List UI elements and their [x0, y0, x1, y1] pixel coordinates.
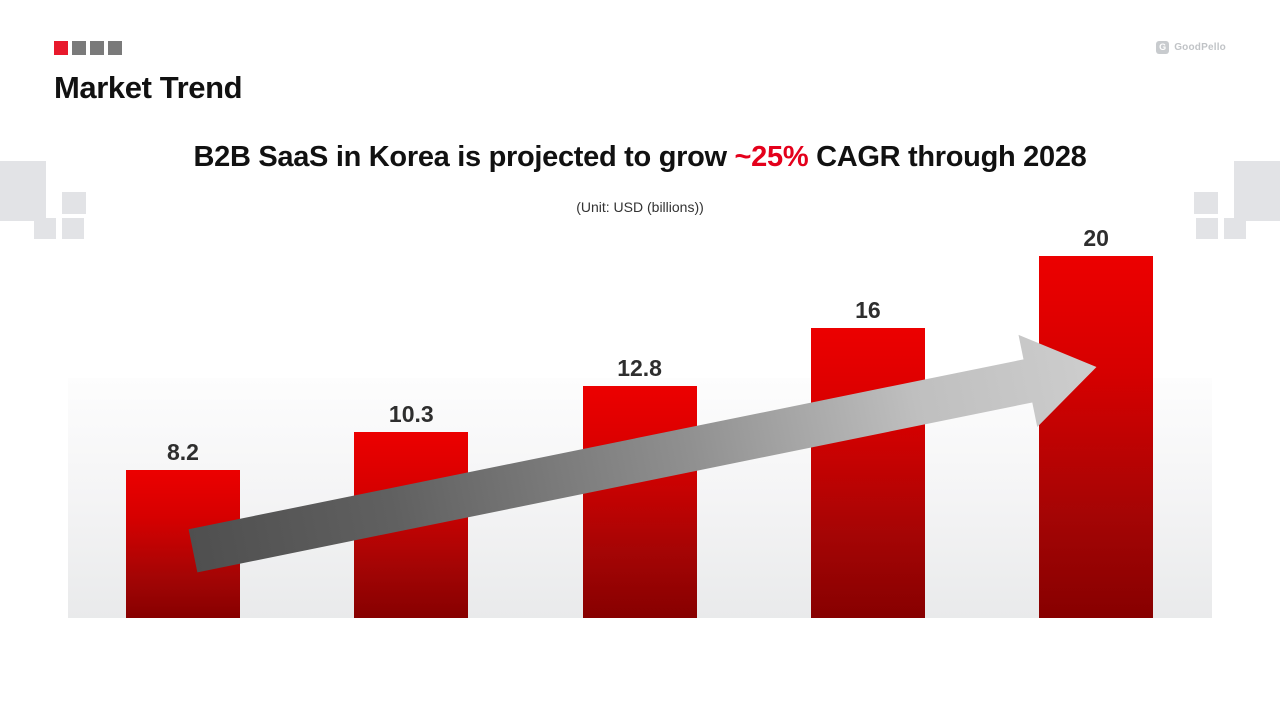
slide-canvas: Market Trend G GoodPello B2B SaaS in Kor… [0, 0, 1280, 720]
brand-logo: G GoodPello [1156, 41, 1226, 54]
bar-value-2024: 8.2 [126, 439, 240, 466]
bar-2026[interactable] [583, 386, 697, 618]
unit-note: (Unit: USD (billions)) [0, 199, 1280, 215]
decor-square-left-small [34, 218, 56, 239]
accent-swatches [54, 41, 122, 55]
accent-swatch-4 [108, 41, 122, 55]
decor-square-right-small [1224, 218, 1246, 239]
bar-2025[interactable] [354, 432, 468, 618]
accent-swatch-2 [72, 41, 86, 55]
bar-2024[interactable] [126, 470, 240, 618]
headline-before: B2B SaaS in Korea is projected to grow [193, 141, 734, 173]
brand-mark-icon: G [1156, 41, 1169, 54]
brand-name: GoodPello [1174, 42, 1226, 53]
headline-after: CAGR through 2028 [808, 141, 1086, 173]
headline: B2B SaaS in Korea is projected to grow ~… [0, 141, 1280, 174]
bar-value-2026: 12.8 [583, 355, 697, 382]
headline-highlight: ~25% [735, 141, 809, 173]
bar-series: 8.2202410.3202512.82026162027202028 [68, 378, 1212, 618]
bar-2028[interactable] [1039, 256, 1153, 618]
decor-square-left-small2 [62, 218, 84, 239]
accent-swatch-3 [90, 41, 104, 55]
accent-swatch-1 [54, 41, 68, 55]
bar-value-2025: 10.3 [354, 401, 468, 428]
bar-chart: 8.2202410.3202512.82026162027202028 [68, 378, 1212, 618]
bar-2027[interactable] [811, 328, 925, 618]
page-title: Market Trend [54, 70, 242, 106]
bar-value-2028: 20 [1039, 225, 1153, 252]
bar-value-2027: 16 [811, 297, 925, 324]
decor-square-right-small2 [1196, 218, 1218, 239]
